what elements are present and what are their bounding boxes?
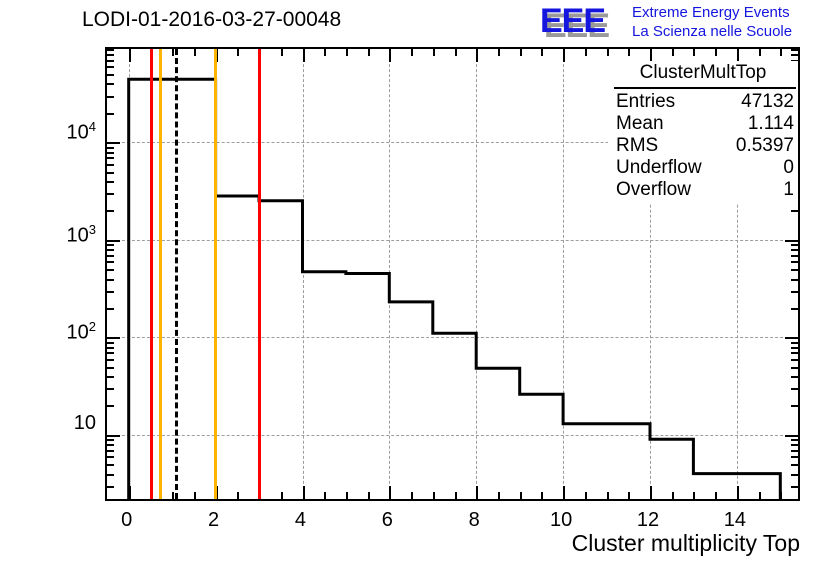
red-line-left bbox=[150, 49, 153, 499]
stats-box-title: ClusterMultTop bbox=[608, 62, 798, 84]
eee-logo-caption-line2: La Scienza nelle Scuole bbox=[632, 22, 792, 41]
orange-line-right bbox=[214, 49, 217, 499]
stats-key-mean: Mean bbox=[616, 113, 664, 135]
y-tick-label-1e4: 104 bbox=[36, 119, 96, 145]
eee-logo: EEE EEE Extreme Energy Events La Scienza… bbox=[540, 2, 832, 42]
eee-logo-front-text: EEE bbox=[540, 4, 605, 38]
red-line-right bbox=[258, 49, 261, 499]
eee-logo-caption-line1: Extreme Energy Events bbox=[632, 3, 792, 22]
y-tick-label-10: 10 bbox=[36, 412, 96, 435]
stats-value-rms: 0.5397 bbox=[736, 135, 794, 157]
x-tick-label-4: 4 bbox=[280, 509, 320, 532]
x-tick-label-0: 0 bbox=[107, 509, 147, 532]
eee-logo-mark: EEE EEE bbox=[540, 4, 625, 38]
stats-key-underflow: Underflow bbox=[616, 157, 702, 179]
stats-row-overflow: Overflow 1 bbox=[616, 179, 794, 202]
stats-row-mean: Mean 1.114 bbox=[616, 113, 794, 136]
x-tick-label-10: 10 bbox=[541, 509, 581, 532]
x-axis-title: Cluster multiplicity Top bbox=[572, 530, 800, 557]
stats-key-rms: RMS bbox=[616, 135, 658, 157]
y-tick-label-1e2: 102 bbox=[36, 319, 96, 345]
x-tick-label-2: 2 bbox=[194, 509, 234, 532]
x-tick-label-8: 8 bbox=[454, 509, 494, 532]
stats-value-overflow: 1 bbox=[783, 179, 794, 201]
mean-line bbox=[175, 49, 178, 499]
orange-line-left bbox=[159, 49, 162, 499]
stats-value-entries: 47132 bbox=[741, 91, 794, 113]
stats-key-entries: Entries bbox=[616, 91, 675, 113]
x-tick-label-12: 12 bbox=[628, 509, 668, 532]
y-tick-label-1e3: 103 bbox=[36, 222, 96, 248]
eee-logo-caption: Extreme Energy Events La Scienza nelle S… bbox=[632, 3, 792, 41]
stats-box: ClusterMultTop Entries 47132 Mean 1.114 … bbox=[608, 61, 798, 204]
x-tick-label-6: 6 bbox=[367, 509, 407, 532]
stats-box-divider bbox=[614, 87, 796, 89]
stats-row-entries: Entries 47132 bbox=[616, 91, 794, 114]
x-tick-label-14: 14 bbox=[715, 509, 755, 532]
page-title: LODI-01-2016-03-27-00048 bbox=[82, 8, 341, 32]
stats-value-mean: 1.114 bbox=[748, 113, 794, 135]
stats-row-rms: RMS 0.5397 bbox=[616, 135, 794, 158]
stats-row-underflow: Underflow 0 bbox=[616, 157, 794, 180]
stats-key-overflow: Overflow bbox=[616, 179, 691, 201]
stats-value-underflow: 0 bbox=[783, 157, 794, 179]
